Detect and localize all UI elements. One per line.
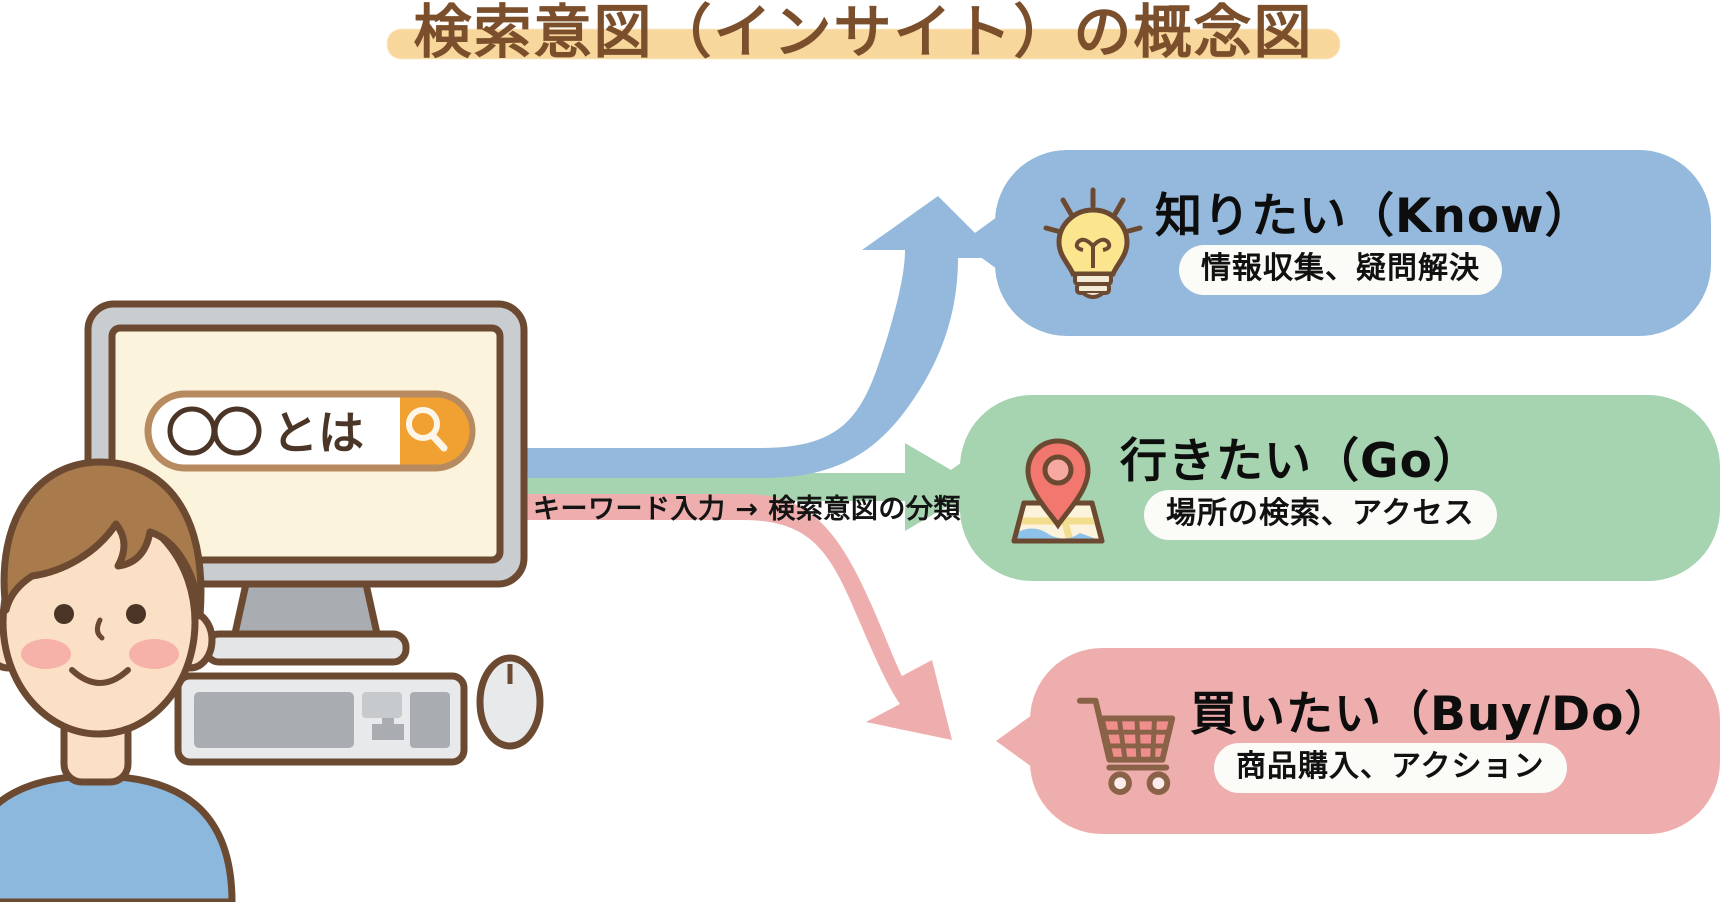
svg-text:とは: とは [272,406,364,460]
intent-card-buy[interactable]: 買いたい（Buy/Do） 商品購入、アクション [1030,648,1720,834]
intent-card-go[interactable]: 行きたい（Go） 場所の検索、アクセス [960,395,1720,581]
card-tail [996,715,1032,767]
lightbulb-icon [1039,183,1147,303]
card-subtitle-go: 場所の検索、アクセス [1144,490,1497,540]
intent-card-know[interactable]: 知りたい（Know） 情報収集、疑問解決 [995,150,1711,336]
search-bar[interactable]: とは [148,394,472,468]
card-tail [961,217,997,269]
shopping-cart-icon [1074,681,1182,801]
eye-left [54,604,74,624]
eye-right [126,604,146,624]
map-pin-icon [1004,428,1112,548]
keyboard-icon [178,676,464,762]
arrow-buy [520,494,952,740]
card-subtitle-know: 情報収集、疑問解決 [1179,245,1502,295]
mouse-icon [480,658,540,746]
card-title-know: 知りたい（Know） [1155,191,1711,243]
flow-label: キーワード入力 → 検索意図の分類 [533,487,961,526]
diagram-canvas: 検索意図（インサイト）の概念図 キーワード入力 → 検索意図の分類 [0,0,1727,900]
card-subtitle-buy: 商品購入、アクション [1214,743,1567,793]
search-scene-illustration: とは [0,272,580,902]
arrow-know [520,196,1000,478]
card-title-go: 行きたい（Go） [1120,436,1720,488]
card-title-buy: 買いたい（Buy/Do） [1190,689,1720,741]
